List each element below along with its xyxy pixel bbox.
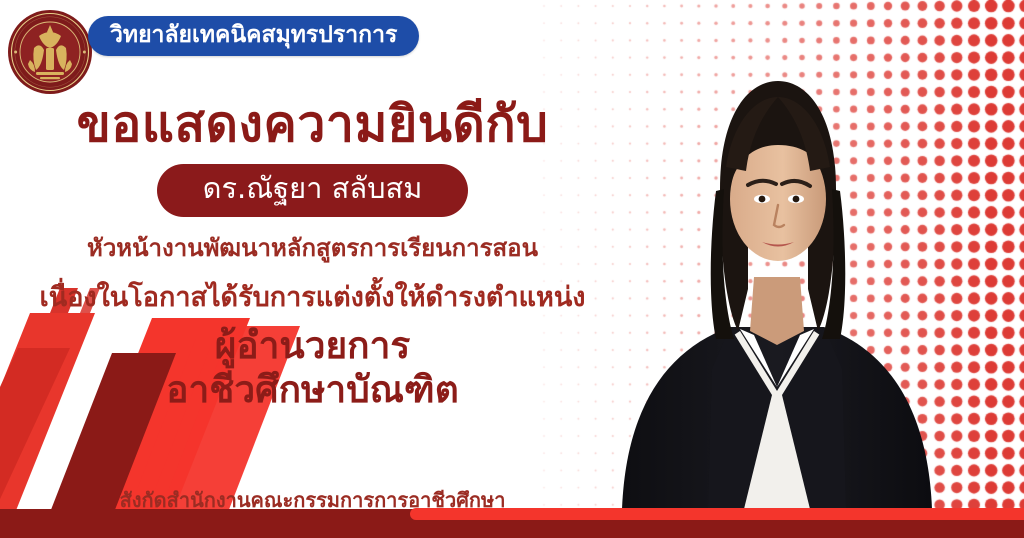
content-block: ขอแสดงความยินดีกับ ดร.ณัฐยา สลับสม หัวหน…	[0, 96, 625, 411]
school-name-badge: วิทยาลัยเทคนิคสมุทรปราการ	[88, 16, 419, 57]
new-position-line-2: อาชีวศึกษาบัณฑิต	[0, 368, 625, 412]
affiliation-text: สังกัดสำนักงานคณะกรรมการการอาชีวศึกษา	[0, 487, 625, 513]
name-pill-wrapper: ดร.ณัฐยา สลับสม	[0, 164, 625, 217]
new-position-line-1: ผู้อำนวยการ	[0, 325, 625, 368]
headline: ขอแสดงความยินดีกับ	[0, 96, 625, 152]
occasion-text: เนื่องในโอกาสได้รับการแต่งตั้งให้ดำรงตำแ…	[0, 280, 625, 315]
current-role: หัวหน้างานพัฒนาหลักสูตรการเรียนการสอน	[0, 233, 625, 264]
header: วิทยาลัยเทคนิคสมุทรปราการ	[6, 8, 419, 96]
vocational-education-commission-seal-icon	[6, 8, 94, 96]
honoree-name-badge: ดร.ณัฐยา สลับสม	[157, 164, 469, 217]
honoree-portrait	[612, 39, 942, 509]
congratulations-banner: วิทยาลัยเทคนิคสมุทรปราการ ขอแสดงความยินด…	[0, 0, 1024, 538]
